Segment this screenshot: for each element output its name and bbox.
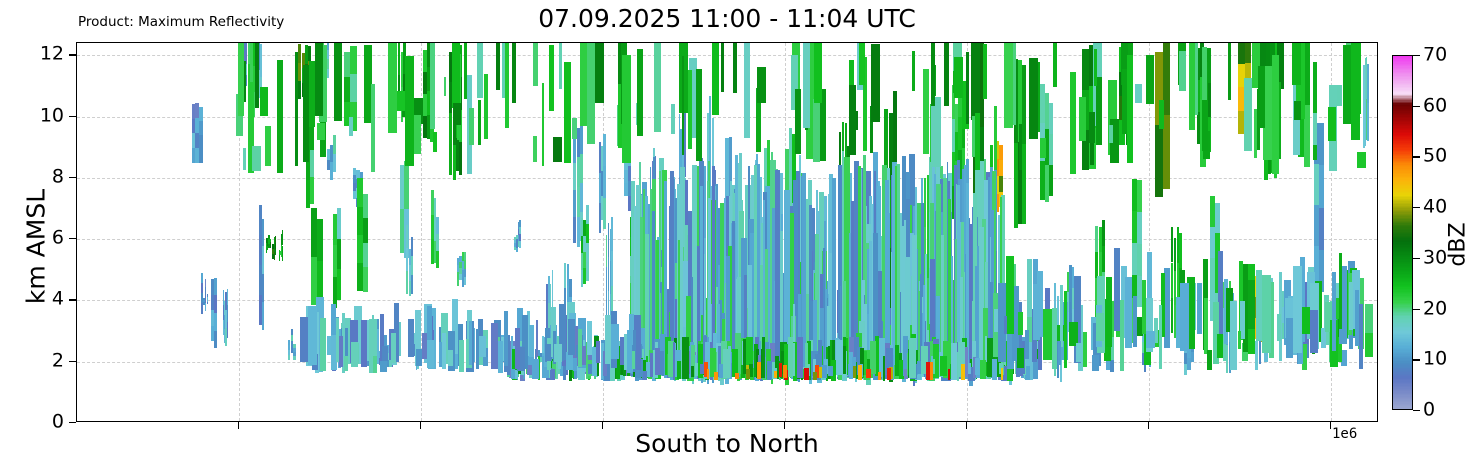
y-axis-tick-mark — [69, 177, 76, 178]
reflectivity-column — [1043, 309, 1051, 359]
reflectivity-column — [944, 42, 949, 106]
reflectivity-column — [1254, 109, 1257, 158]
reflectivity-column — [783, 365, 787, 377]
reflectivity-column — [723, 349, 730, 379]
reflectivity-column — [405, 56, 414, 166]
reflectivity-column — [327, 69, 329, 78]
reflectivity-column — [275, 243, 276, 249]
reflectivity-column — [1082, 49, 1089, 89]
reflectivity-column — [858, 365, 861, 381]
x-axis-tick-mark — [1148, 422, 1149, 429]
reflectivity-column — [804, 368, 809, 380]
reflectivity-column — [357, 207, 363, 235]
reflectivity-column — [350, 74, 356, 102]
reflectivity-column — [408, 319, 414, 357]
reflectivity-column — [954, 57, 962, 98]
reflectivity-column — [282, 246, 283, 262]
reflectivity-column — [660, 351, 664, 375]
reflectivity-column — [1001, 368, 1004, 380]
reflectivity-column — [504, 311, 508, 366]
reflectivity-column — [951, 343, 957, 380]
reflectivity-column — [411, 237, 413, 256]
reflectivity-column — [587, 43, 595, 143]
reflectivity-column — [983, 44, 987, 99]
colorbar-tick-mark — [1413, 258, 1420, 259]
reflectivity-column — [779, 363, 782, 377]
reflectivity-column — [275, 236, 276, 242]
reflectivity-column — [795, 89, 801, 154]
reflectivity-column — [337, 269, 341, 300]
reflectivity-column — [1049, 103, 1053, 134]
reflectivity-column — [1096, 77, 1102, 145]
reflectivity-column — [1018, 312, 1024, 334]
reflectivity-column — [793, 343, 795, 376]
y-axis-tick-label: 2 — [52, 351, 64, 370]
reflectivity-column — [427, 340, 434, 368]
reflectivity-column — [344, 356, 347, 371]
colorbar-tick-label: 20 — [1423, 299, 1447, 318]
reflectivity-column — [971, 42, 979, 120]
reflectivity-column — [1356, 42, 1361, 114]
reflectivity-column — [871, 44, 880, 122]
reflectivity-column — [1135, 84, 1141, 102]
reflectivity-column — [411, 275, 413, 294]
reflectivity-column — [1125, 277, 1132, 348]
reflectivity-column — [1365, 333, 1374, 357]
reflectivity-column — [578, 329, 583, 366]
reflectivity-column — [1060, 285, 1063, 347]
reflectivity-column — [310, 177, 314, 204]
x-axis-tick-mark — [238, 422, 239, 429]
reflectivity-column — [1179, 233, 1182, 267]
reflectivity-column — [214, 278, 217, 296]
reflectivity-column — [436, 251, 438, 268]
reflectivity-column — [327, 50, 329, 59]
reflectivity-column — [1332, 272, 1335, 351]
reflectivity-column — [887, 368, 891, 380]
reflectivity-column — [1349, 282, 1352, 330]
reflectivity-column — [511, 369, 516, 378]
reflectivity-column — [363, 194, 369, 219]
reflectivity-column — [1217, 334, 1223, 357]
reflectivity-column — [351, 342, 358, 368]
reflectivity-column — [1137, 212, 1142, 244]
reflectivity-column — [1365, 304, 1372, 334]
reflectivity-column — [580, 183, 583, 212]
y-axis-tick-mark — [69, 116, 76, 117]
plot-area[interactable] — [76, 42, 1378, 422]
reflectivity-column — [1248, 280, 1255, 330]
reflectivity-column — [707, 369, 709, 379]
reflectivity-column — [414, 115, 421, 153]
colorbar-tick-label: 30 — [1423, 248, 1447, 267]
reflectivity-column — [252, 146, 261, 171]
reflectivity-column — [836, 340, 843, 376]
reflectivity-column — [1040, 138, 1046, 158]
reflectivity-column — [637, 49, 643, 136]
reflectivity-column — [476, 329, 479, 370]
reflectivity-column — [327, 336, 331, 355]
reflectivity-column — [1341, 350, 1347, 366]
reflectivity-column — [828, 366, 833, 377]
reflectivity-column — [260, 87, 268, 116]
reflectivity-column — [677, 361, 681, 379]
reflectivity-column — [1293, 266, 1302, 353]
reflectivity-column — [464, 269, 466, 277]
reflectivity-column — [596, 341, 600, 362]
reflectivity-column — [696, 69, 702, 160]
reflectivity-column — [719, 364, 723, 378]
reflectivity-column — [940, 356, 947, 376]
reflectivity-column — [1328, 107, 1335, 140]
y-axis-tick-mark — [69, 299, 76, 300]
reflectivity-column — [469, 108, 475, 145]
reflectivity-column — [519, 234, 521, 241]
reflectivity-column — [930, 362, 933, 379]
reflectivity-column — [1310, 310, 1318, 353]
reflectivity-column — [618, 42, 621, 84]
reflectivity-column — [1133, 296, 1137, 348]
reflectivity-column — [315, 42, 323, 116]
reflectivity-column — [1102, 246, 1105, 272]
x-axis-tick-mark — [420, 422, 421, 429]
reflectivity-column — [688, 70, 691, 149]
reflectivity-column — [496, 42, 500, 90]
reflectivity-column — [923, 69, 929, 154]
reflectivity-column — [464, 252, 466, 260]
reflectivity-column — [1357, 152, 1366, 168]
reflectivity-column — [999, 176, 1003, 192]
colorbar-tick-label: 50 — [1423, 147, 1447, 166]
reflectivity-column — [757, 67, 766, 103]
reflectivity-column — [344, 52, 350, 77]
y-axis-tick-label: 4 — [52, 290, 64, 309]
reflectivity-column — [975, 113, 980, 170]
reflectivity-column — [270, 239, 271, 242]
reflectivity-column — [515, 328, 520, 370]
reflectivity-column — [317, 123, 325, 140]
colorbar — [1392, 55, 1413, 410]
reflectivity-column — [990, 145, 993, 168]
reflectivity-column — [994, 309, 998, 333]
reflectivity-column — [1106, 277, 1112, 347]
colorbar-tick-mark — [1413, 55, 1420, 56]
reflectivity-column — [464, 42, 467, 99]
reflectivity-column — [199, 121, 203, 135]
reflectivity-column — [948, 369, 950, 380]
y-axis-tick-label: 12 — [40, 45, 64, 64]
reflectivity-column — [580, 125, 583, 154]
reflectivity-column — [327, 59, 329, 68]
reflectivity-column — [270, 242, 271, 245]
reflectivity-column — [1230, 301, 1237, 370]
reflectivity-column — [295, 52, 299, 166]
x-axis-tick-mark — [966, 422, 967, 429]
reflectivity-column — [357, 235, 363, 263]
reflectivity-column — [628, 166, 632, 181]
reflectivity-column — [391, 333, 395, 363]
reflectivity-column — [767, 361, 772, 380]
colorbar-tick-mark — [1413, 106, 1420, 107]
reflectivity-column — [580, 154, 583, 183]
reflectivity-column — [214, 331, 217, 349]
colorbar-tick-mark — [1413, 156, 1420, 157]
reflectivity-column — [205, 279, 207, 287]
reflectivity-column — [859, 42, 865, 85]
reflectivity-column — [1146, 331, 1155, 348]
reflectivity-column — [1058, 341, 1061, 365]
reflectivity-column — [620, 337, 624, 365]
x-axis-tick-mark — [602, 422, 603, 429]
reflectivity-column — [320, 318, 326, 371]
reflectivity-column — [549, 45, 554, 111]
reflectivity-column — [558, 350, 561, 369]
reflectivity-column — [433, 132, 438, 152]
reflectivity-column — [334, 42, 342, 121]
reflectivity-column — [803, 42, 809, 128]
reflectivity-column — [870, 341, 876, 374]
reflectivity-column — [552, 369, 555, 380]
reflectivity-column — [1110, 360, 1114, 372]
reflectivity-column — [498, 341, 503, 373]
reflectivity-column — [1337, 85, 1342, 105]
reflectivity-column — [529, 325, 534, 357]
reflectivity-column — [406, 225, 408, 248]
reflectivity-column — [813, 99, 821, 162]
reflectivity-column — [1053, 42, 1056, 87]
reflectivity-column — [611, 324, 619, 359]
y-axis-tick-mark — [69, 238, 76, 239]
reflectivity-column — [201, 283, 203, 293]
reflectivity-column — [382, 346, 387, 362]
reflectivity-column — [968, 363, 970, 375]
reflectivity-column — [519, 220, 521, 227]
reflectivity-column — [746, 369, 751, 379]
reflectivity-column — [1049, 165, 1053, 196]
reflectivity-column — [552, 270, 554, 304]
reflectivity-column — [622, 55, 631, 163]
reflectivity-column — [947, 162, 949, 365]
reflectivity-column — [813, 372, 817, 380]
reflectivity-column — [980, 360, 985, 379]
reflectivity-column — [1137, 276, 1142, 308]
reflectivity-column — [568, 319, 575, 355]
reflectivity-column — [1159, 305, 1162, 369]
reflectivity-column — [533, 43, 539, 85]
reflectivity-column — [1004, 316, 1008, 334]
reflectivity-column — [714, 372, 719, 380]
reflectivity-column — [502, 42, 506, 98]
reflectivity-column — [477, 42, 482, 98]
reflectivity-column — [1089, 112, 1095, 144]
reflectivity-column — [682, 337, 689, 378]
reflectivity-column — [293, 356, 295, 360]
reflectivity-column — [1244, 78, 1252, 151]
reflectivity-column — [912, 51, 915, 91]
reflectivity-column — [878, 372, 881, 380]
reflectivity-column — [373, 356, 377, 373]
reflectivity-column — [1017, 348, 1023, 368]
reflectivity-column — [712, 42, 719, 115]
reflectivity-column — [459, 340, 464, 372]
reflectivity-column — [350, 46, 356, 74]
colorbar-title: dBZ — [1446, 185, 1471, 305]
reflectivity-column — [819, 367, 822, 378]
reflectivity-column — [1319, 165, 1324, 207]
reflectivity-column — [721, 42, 724, 92]
reflectivity-column — [564, 62, 571, 163]
reflectivity-column — [243, 148, 246, 170]
reflectivity-column — [444, 77, 446, 96]
reflectivity-column — [586, 224, 588, 243]
reflectivity-column — [512, 42, 516, 103]
colorbar-tick-mark — [1413, 207, 1420, 208]
x-axis-exponent-label: 1e6 — [1332, 426, 1357, 442]
reflectivity-column — [893, 91, 897, 162]
reflectivity-column — [1094, 49, 1097, 85]
reflectivity-columns — [77, 43, 1377, 421]
reflectivity-column — [559, 42, 562, 89]
y-axis-tick-mark — [69, 361, 76, 362]
reflectivity-column — [505, 42, 509, 128]
reflectivity-column — [333, 154, 336, 173]
reflectivity-column — [293, 344, 295, 348]
reflectivity-column — [1033, 284, 1040, 340]
reflectivity-column — [214, 313, 217, 331]
reflectivity-column — [762, 337, 765, 378]
reflectivity-column — [655, 348, 660, 375]
reflectivity-column — [569, 279, 571, 296]
reflectivity-column — [775, 170, 780, 365]
reflectivity-column — [484, 74, 488, 139]
reflectivity-column — [207, 297, 209, 300]
reflectivity-column — [469, 321, 473, 365]
reflectivity-column — [275, 249, 276, 255]
reflectivity-column — [1038, 62, 1041, 133]
reflectivity-column — [926, 362, 929, 380]
colorbar-tick-mark — [1413, 359, 1420, 360]
reflectivity-column — [288, 355, 290, 360]
reflectivity-column — [308, 306, 316, 365]
reflectivity-column — [311, 208, 317, 257]
reflectivity-column — [201, 273, 203, 283]
reflectivity-column — [1049, 134, 1053, 165]
x-axis-tick-mark — [1330, 422, 1331, 429]
reflectivity-column — [1022, 65, 1026, 145]
reflectivity-column — [1238, 331, 1241, 350]
reflectivity-column — [227, 289, 228, 305]
y-axis-label: km AMSL — [22, 147, 51, 347]
y-axis-tick-mark — [69, 422, 76, 423]
reflectivity-column — [310, 124, 314, 151]
reflectivity-column — [909, 338, 916, 378]
reflectivity-column — [1180, 283, 1189, 351]
reflectivity-column — [1025, 330, 1029, 358]
reflectivity-column — [1064, 291, 1067, 368]
reflectivity-column — [1159, 100, 1164, 129]
reflectivity-column — [1255, 341, 1258, 371]
reflectivity-column — [339, 336, 343, 367]
reflectivity-column — [337, 239, 341, 270]
reflectivity-column — [774, 371, 777, 378]
reflectivity-column — [533, 136, 537, 162]
reflectivity-column — [1076, 343, 1083, 362]
reflectivity-column — [586, 262, 588, 281]
reflectivity-column — [1313, 113, 1317, 144]
reflectivity-column — [1019, 124, 1022, 170]
reflectivity-column — [516, 248, 518, 252]
reflectivity-column — [361, 320, 367, 367]
reflectivity-column — [1127, 55, 1133, 163]
reflectivity-column — [671, 104, 675, 134]
reflectivity-column — [682, 56, 685, 155]
reflectivity-column — [1215, 203, 1220, 233]
reflectivity-column — [519, 227, 521, 234]
reflectivity-column — [595, 42, 604, 103]
reflectivity-column — [1245, 42, 1251, 63]
reflectivity-column — [349, 117, 354, 136]
reflectivity-column — [363, 218, 369, 243]
reflectivity-column — [642, 371, 647, 380]
reflectivity-column — [572, 118, 576, 139]
reflectivity-column — [573, 358, 577, 371]
reflectivity-column — [448, 350, 454, 366]
colorbar-tick-mark — [1413, 410, 1420, 411]
reflectivity-column — [442, 333, 447, 369]
reflectivity-column — [1022, 144, 1026, 224]
reflectivity-column — [1238, 42, 1244, 64]
reflectivity-column — [931, 42, 935, 106]
reflectivity-column — [227, 305, 228, 321]
reflectivity-column — [404, 161, 408, 209]
reflectivity-column — [207, 299, 209, 302]
reflectivity-column — [199, 135, 203, 149]
reflectivity-column — [992, 359, 997, 380]
reflectivity-column — [357, 263, 363, 291]
reflectivity-column — [627, 330, 631, 373]
reflectivity-column — [1319, 123, 1324, 165]
reflectivity-column — [1122, 69, 1127, 134]
reflectivity-column — [327, 42, 329, 50]
colorbar-tick-label: 40 — [1423, 198, 1447, 217]
reflectivity-column — [1313, 62, 1317, 160]
reflectivity-column — [1137, 180, 1142, 212]
reflectivity-column — [457, 279, 459, 286]
reflectivity-column — [603, 134, 605, 166]
reflectivity-column — [1179, 51, 1186, 91]
reflectivity-column — [1109, 125, 1114, 143]
reflectivity-column — [411, 256, 413, 275]
reflectivity-column — [317, 219, 323, 261]
x-axis-label: South to North — [76, 429, 1378, 458]
reflectivity-column — [797, 337, 803, 378]
reflectivity-column — [1367, 64, 1368, 103]
reflectivity-column — [260, 44, 262, 76]
reflectivity-column — [1262, 275, 1271, 353]
reflectivity-column — [1319, 208, 1324, 250]
reflectivity-column — [1102, 220, 1105, 246]
reflectivity-column — [453, 103, 461, 125]
colorbar-tick-mark — [1413, 309, 1420, 310]
reflectivity-column — [337, 208, 341, 239]
reflectivity-column — [849, 85, 856, 155]
reflectivity-column — [757, 362, 761, 380]
reflectivity-column — [363, 267, 369, 292]
reflectivity-column — [587, 321, 592, 355]
reflectivity-column — [416, 349, 421, 366]
reflectivity-column — [478, 100, 481, 145]
reflectivity-column — [1258, 66, 1265, 128]
